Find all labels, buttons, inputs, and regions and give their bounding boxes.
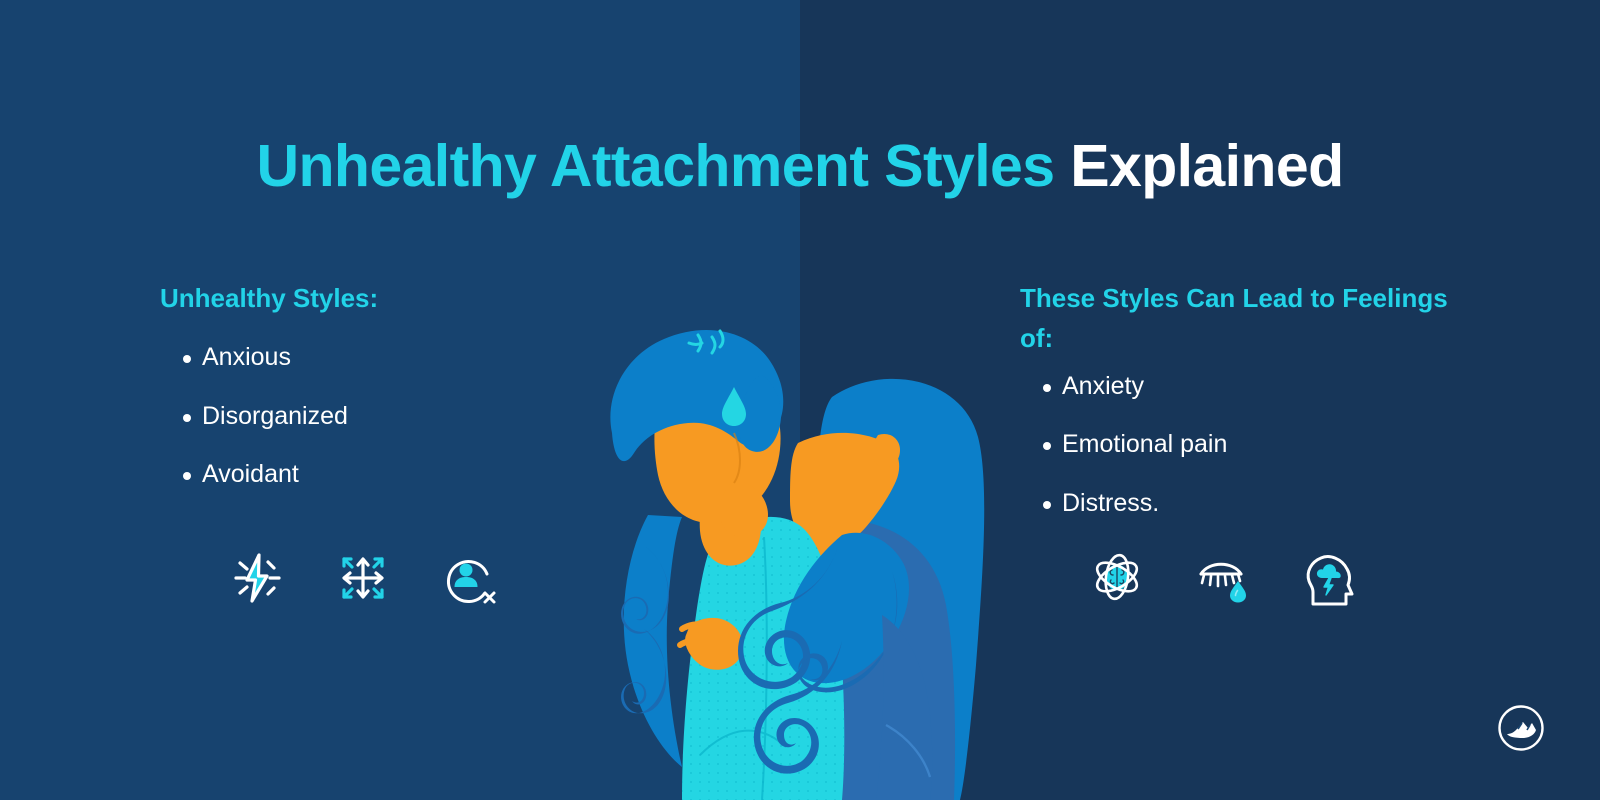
list-item: Anxiety [1020,373,1450,401]
crying-eye-icon [1192,545,1254,611]
right-column: These Styles Can Lead to Feelings of: An… [1020,278,1450,548]
right-bullet-list: Anxiety Emotional pain Distress. [1020,373,1450,518]
page-title-highlight: Unhealthy Attachment Styles [256,133,1054,199]
brand-logo[interactable] [1497,704,1545,752]
scatter-arrows-icon [332,545,394,611]
left-column-heading: Unhealthy Styles: [160,278,580,318]
list-item: Anxious [160,344,580,372]
right-icon-row [1086,545,1360,611]
list-item: Avoidant [160,461,580,489]
person-blocked-icon [438,545,500,611]
list-item: Emotional pain [1020,431,1450,459]
page-title: Unhealthy Attachment Styles Explained [0,134,1600,199]
list-item: Disorganized [160,403,580,431]
brain-atom-icon [1086,545,1148,611]
list-item: Distress. [1020,490,1450,518]
left-column: Unhealthy Styles: Anxious Disorganized A… [160,278,580,520]
infographic-poster: Unhealthy Attachment Styles Explained Un… [0,0,1600,800]
left-bullet-list: Anxious Disorganized Avoidant [160,344,580,489]
head-storm-cloud-icon [1298,545,1360,611]
page-title-plain: Explained [1070,133,1343,199]
lightning-bolt-icon [226,545,288,611]
right-column-heading: These Styles Can Lead to Feelings of: [1020,278,1450,359]
two-people-embracing-illustration [590,285,1010,800]
left-icon-row [226,545,500,611]
